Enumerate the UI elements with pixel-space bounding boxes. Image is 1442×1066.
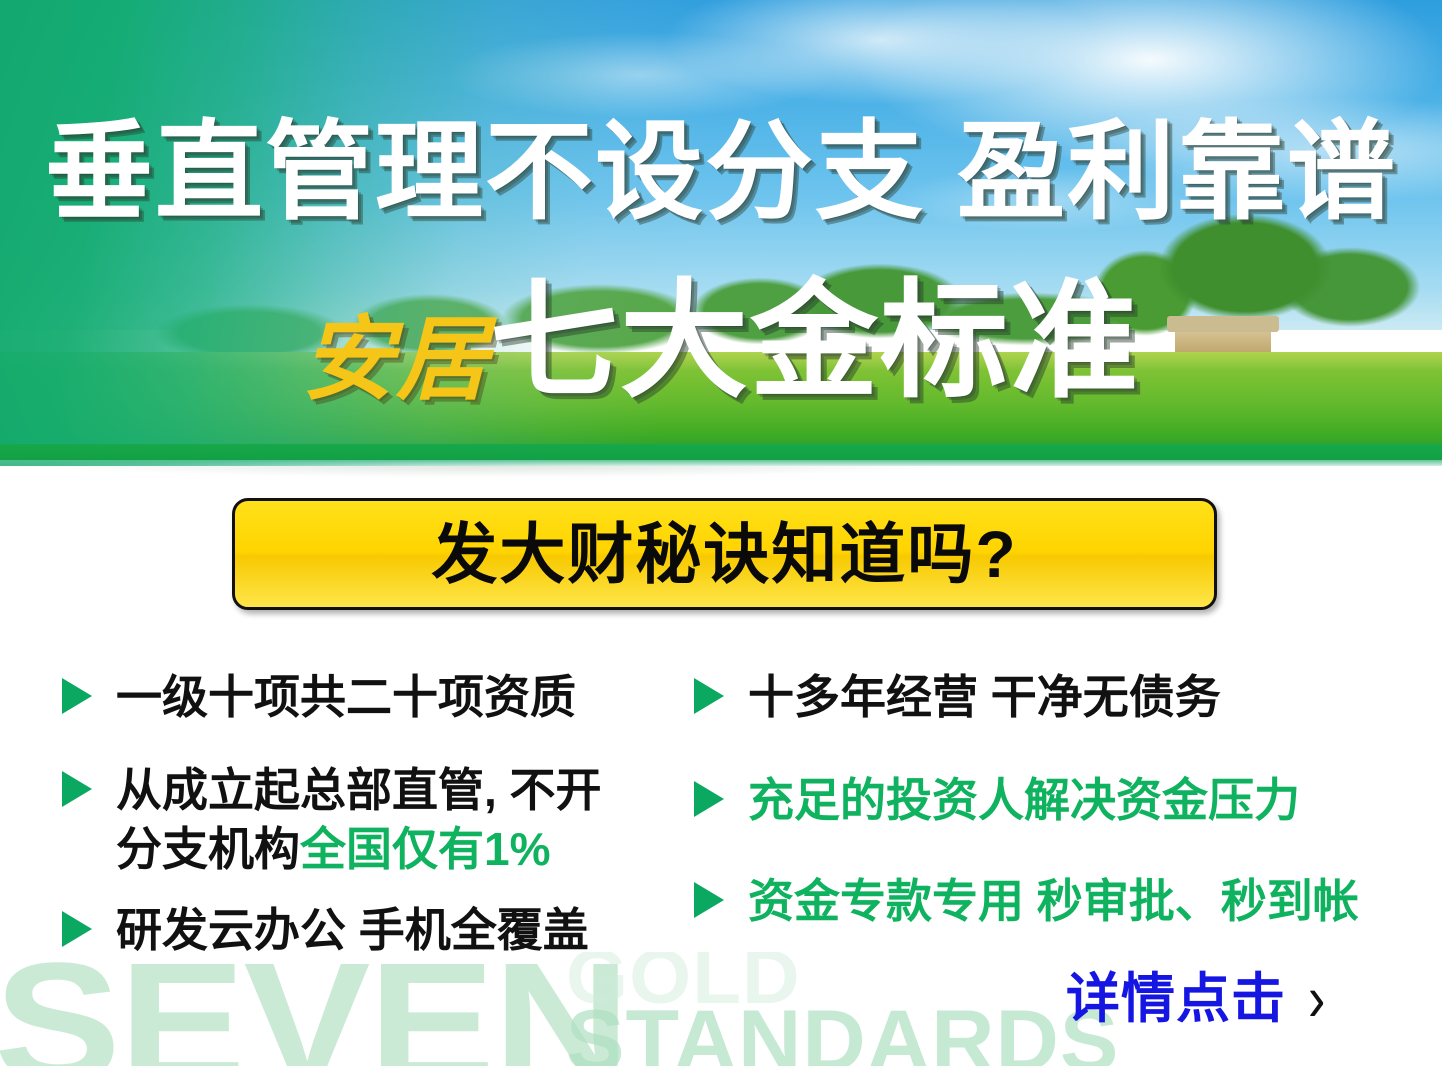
feature-text-segment: 分支机构 xyxy=(116,823,300,875)
hero-brand-word: 安居 xyxy=(302,309,490,411)
feature-item-text: 研发云办公 手机全覆盖 xyxy=(116,901,589,960)
hero-headline-main: 七大金标准 xyxy=(490,270,1140,413)
feature-item: 十多年经营 干净无债务 xyxy=(692,668,1392,727)
detail-link[interactable]: 详情点击 › xyxy=(1066,972,1325,1026)
feature-list-left: 一级十项共二十项资质从成立起总部直管, 不开分支机构全国仅有1%研发云办公 手机… xyxy=(60,668,700,986)
feature-text-segment: 一级十项共二十项资质 xyxy=(116,671,576,723)
feature-text-segment: 从成立起总部直管, 不开 xyxy=(116,764,602,816)
green-triangle-icon xyxy=(60,770,94,808)
hero-headline-line2: 安居七大金标准 xyxy=(0,278,1442,406)
hero-bottom-green-bar xyxy=(0,444,1442,460)
feature-item: 一级十项共二十项资质 xyxy=(60,668,700,727)
feature-item-text: 资金专款专用 秒审批、秒到帐 xyxy=(748,872,1359,931)
watermark-standards: STANDARDS xyxy=(566,998,1119,1066)
hero-drop-shadow xyxy=(0,466,1442,482)
feature-item: 从成立起总部直管, 不开分支机构全国仅有1% xyxy=(60,761,700,879)
detail-link-label: 详情点击 xyxy=(1066,972,1286,1026)
feature-item: 资金专款专用 秒审批、秒到帐 xyxy=(692,872,1392,931)
green-triangle-icon xyxy=(60,677,94,715)
feature-item-text: 从成立起总部直管, 不开分支机构全国仅有1% xyxy=(116,761,602,879)
hero-section: 垂直管理不设分支 盈利靠谱 安居七大金标准 xyxy=(0,0,1442,466)
green-triangle-icon xyxy=(60,910,94,948)
promotional-banner: 垂直管理不设分支 盈利靠谱 安居七大金标准 发大财秘诀知道吗? SEVEN GO… xyxy=(0,0,1442,1066)
feature-text-segment: 全国仅有1% xyxy=(300,823,550,875)
green-triangle-icon xyxy=(692,677,726,715)
headline-cta-bar[interactable]: 发大财秘诀知道吗? xyxy=(232,498,1217,610)
feature-text-segment: 十多年经营 干净无债务 xyxy=(748,671,1221,723)
feature-list-right: 十多年经营 干净无债务充足的投资人解决资金压力资金专款专用 秒审批、秒到帐 xyxy=(692,668,1392,957)
green-triangle-icon xyxy=(692,881,726,919)
feature-text-segment: 研发云办公 手机全覆盖 xyxy=(116,904,589,956)
green-triangle-icon xyxy=(692,780,726,818)
feature-item-text: 十多年经营 干净无债务 xyxy=(748,668,1221,727)
feature-item: 充足的投资人解决资金压力 xyxy=(692,771,1392,830)
hero-headline-line1: 垂直管理不设分支 盈利靠谱 xyxy=(0,118,1442,226)
headline-cta-label: 发大财秘诀知道吗? xyxy=(431,521,1017,587)
feature-text-segment: 资金专款专用 秒审批、秒到帐 xyxy=(748,875,1359,927)
feature-item-text: 充足的投资人解决资金压力 xyxy=(748,771,1300,830)
feature-item: 研发云办公 手机全覆盖 xyxy=(60,901,700,960)
chevron-right-icon: › xyxy=(1308,967,1325,1032)
feature-item-text: 一级十项共二十项资质 xyxy=(116,668,576,727)
feature-text-segment: 充足的投资人解决资金压力 xyxy=(748,774,1300,826)
